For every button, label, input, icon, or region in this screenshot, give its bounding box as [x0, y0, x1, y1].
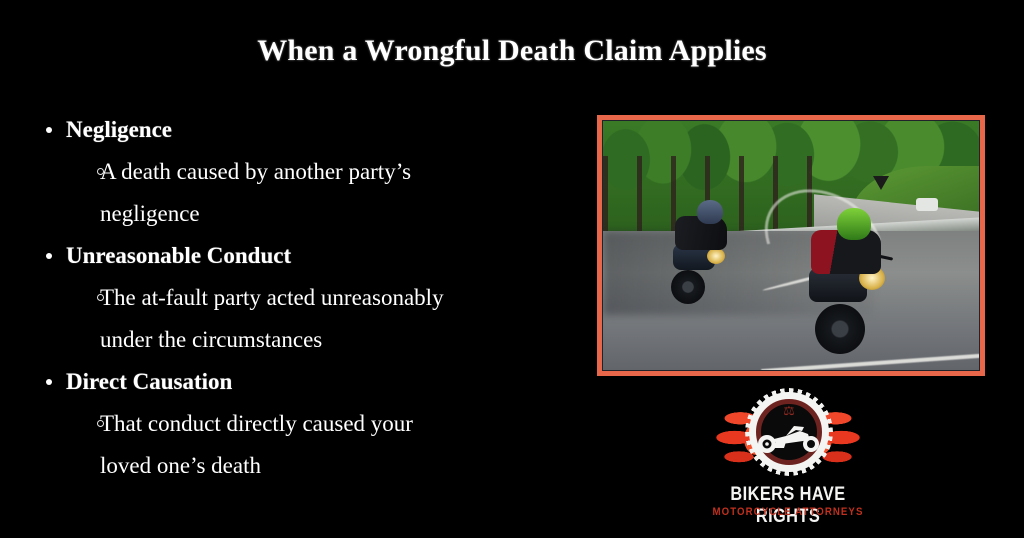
brand-logo[interactable]: ⚖ BIKERS HAVE RIGHTS MOTORCYCLE ATTORNEY…: [690, 384, 886, 528]
photo-inner-border: [602, 120, 980, 371]
motorcycle-wheel: [815, 304, 865, 354]
scales-of-justice-icon: ⚖: [779, 404, 799, 418]
sub-bullet-line: That conduct directly caused your: [36, 404, 581, 444]
sub-bullet-label: loved one’s death: [100, 446, 581, 486]
bullet-heading-label: Direct Causation: [66, 369, 232, 394]
sub-bullet-label: under the circumstances: [100, 320, 581, 360]
photo-distant-car: [916, 198, 938, 211]
photo-rider-front: [799, 208, 903, 360]
bullet-heading-unreasonable-conduct: Unreasonable Conduct: [36, 236, 581, 276]
slide-canvas: When a Wrongful Death Claim Applies Negl…: [0, 0, 1024, 538]
bullet-dot-icon: [46, 253, 52, 259]
bullet-group: Unreasonable Conduct The at-fault party …: [36, 236, 581, 360]
rider-helmet: [697, 200, 723, 224]
bullet-heading-direct-causation: Direct Causation: [36, 362, 581, 402]
sub-bullet-line: The at-fault party acted unreasonably: [36, 278, 581, 318]
sub-bullet-line-continued: under the circumstances: [36, 320, 581, 360]
sub-bullet-line: A death caused by another party’s: [36, 152, 581, 192]
motorcycle-wheel: [671, 270, 705, 304]
bullet-dot-icon: [46, 379, 52, 385]
road-sign-icon: [873, 176, 889, 190]
bullet-group: Direct Causation That conduct directly c…: [36, 362, 581, 486]
bullet-heading-label: Unreasonable Conduct: [66, 243, 291, 268]
rider-helmet: [837, 208, 871, 240]
motorcycle-photo: [603, 121, 979, 370]
sub-bullet-label: The at-fault party acted unreasonably: [100, 278, 581, 318]
sub-bullet-line-continued: negligence: [36, 194, 581, 234]
sub-bullet-label: negligence: [100, 194, 581, 234]
bullet-group: Negligence A death caused by another par…: [36, 110, 581, 234]
motorcycle-photo-frame: [597, 115, 985, 376]
bullet-list: Negligence A death caused by another par…: [36, 110, 581, 488]
chopper-motorcycle-icon: [756, 422, 822, 454]
logo-tagline-text: MOTORCYCLE ATTORNEYS: [702, 506, 874, 518]
page-title: When a Wrongful Death Claim Applies: [0, 34, 1024, 68]
sub-bullet-circle-icon: [97, 294, 104, 301]
sub-bullet-circle-icon: [97, 168, 104, 175]
sub-bullet-circle-icon: [97, 420, 104, 427]
photo-rider-rear: [667, 198, 739, 310]
sub-bullet-line-continued: loved one’s death: [36, 446, 581, 486]
bullet-heading-label: Negligence: [66, 117, 172, 142]
sub-bullet-label: A death caused by another party’s: [100, 152, 581, 192]
motorcycle-headlight: [707, 248, 725, 264]
bullet-dot-icon: [46, 127, 52, 133]
bullet-heading-negligence: Negligence: [36, 110, 581, 150]
sub-bullet-label: That conduct directly caused your: [100, 404, 581, 444]
